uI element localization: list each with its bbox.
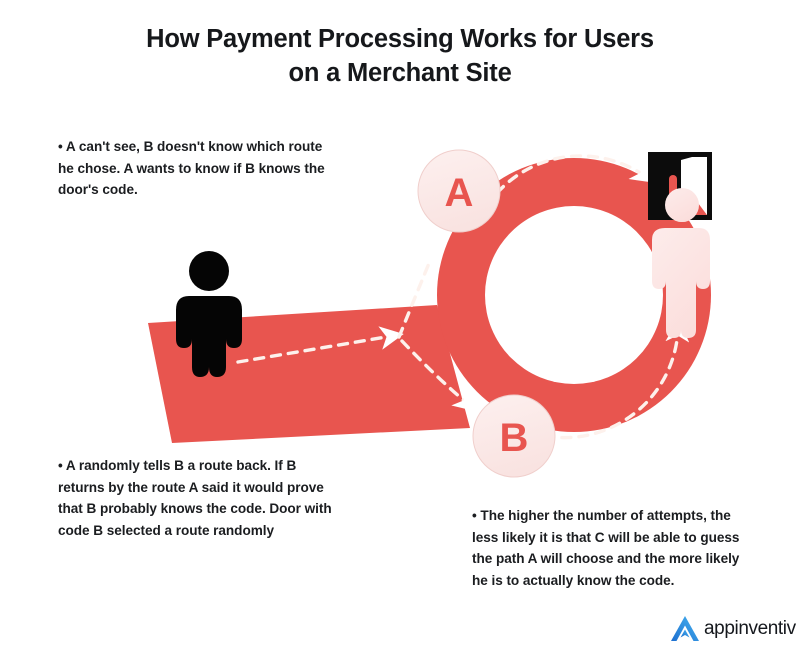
note-top-left: • A can't see, B doesn't know which rout… <box>58 136 326 201</box>
door-icon <box>648 152 712 222</box>
brand-logo: appinventiv <box>668 612 796 645</box>
brand-name: appinventiv <box>704 619 796 639</box>
node-a-label: A <box>445 171 474 215</box>
node-a[interactable]: A <box>418 150 500 232</box>
infographic-canvas: How Payment Processing Works for Users o… <box>0 0 800 658</box>
node-b[interactable]: B <box>473 395 555 477</box>
note-bottom-right: • The higher the number of attempts, the… <box>472 505 754 591</box>
node-b-label: B <box>500 416 529 460</box>
note-bottom-left: • A randomly tells B a route back. If B … <box>58 455 346 541</box>
appinventiv-mark-icon <box>668 612 702 645</box>
